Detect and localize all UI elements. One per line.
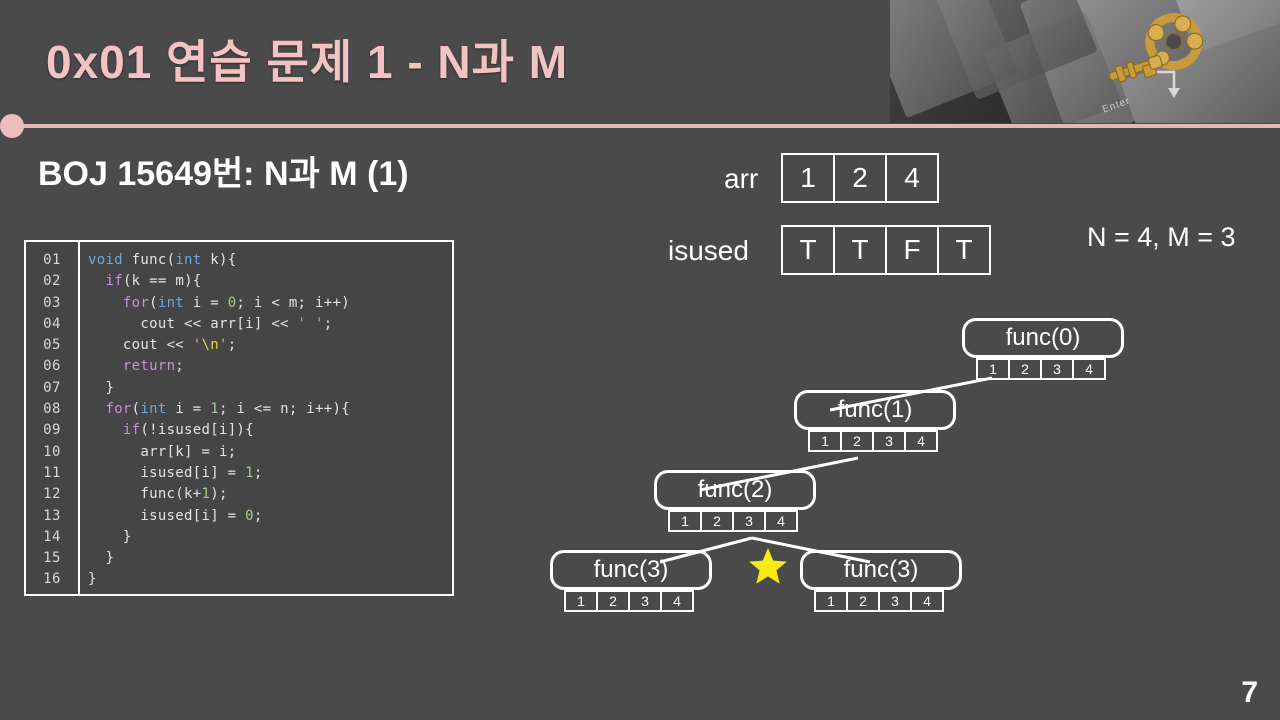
isused-table: TTFT [781, 225, 991, 275]
arr-cell: 4 [885, 153, 939, 203]
arr-cell: 1 [781, 153, 835, 203]
tree-node-index-cell: 1 [808, 430, 842, 452]
tree-node-label: func(1) [794, 390, 956, 430]
tree-node-index-cell: 1 [976, 358, 1010, 380]
code-line: cout << arr[i] << ' '; [88, 314, 452, 335]
header-divider-dot [0, 114, 24, 138]
arr-label: arr [724, 163, 758, 195]
tree-node-index-cell: 2 [840, 430, 874, 452]
code-line: void func(int k){ [88, 250, 452, 271]
star-marker-icon [748, 547, 788, 585]
code-line: for(int i = 1; i <= n; i++){ [88, 399, 452, 420]
code-line-number: 01 [26, 250, 78, 271]
code-line-number: 10 [26, 442, 78, 463]
tree-node-label: func(2) [654, 470, 816, 510]
code-line-number: 16 [26, 569, 78, 590]
code-line-number: 02 [26, 271, 78, 292]
code-line-number: 12 [26, 484, 78, 505]
isused-cell: T [833, 225, 887, 275]
code-line-number: 05 [26, 335, 78, 356]
tree-node-label: func(3) [800, 550, 962, 590]
tree-node-index-cell: 1 [668, 510, 702, 532]
tree-node-label: func(3) [550, 550, 712, 590]
tree-node-func3-left: func(3) 1234 [550, 550, 712, 612]
isused-label: isused [668, 235, 749, 267]
isused-cell: T [937, 225, 991, 275]
code-line-number: 13 [26, 506, 78, 527]
tree-node-index-cell: 4 [764, 510, 798, 532]
isused-cell: F [885, 225, 939, 275]
code-line-number: 09 [26, 420, 78, 441]
code-line-number: 11 [26, 463, 78, 484]
tree-node-index-cell: 3 [878, 590, 912, 612]
page-number: 7 [1241, 676, 1258, 710]
code-line: func(k+1); [88, 484, 452, 505]
isused-cell: T [781, 225, 835, 275]
tree-node-func1: func(1) 1234 [794, 390, 956, 452]
tree-node-index-cell: 2 [1008, 358, 1042, 380]
code-block: 01020304050607080910111213141516 void fu… [24, 240, 454, 596]
tree-node-label: func(0) [962, 318, 1124, 358]
code-line: isused[i] = 1; [88, 463, 452, 484]
code-line-number: 14 [26, 527, 78, 548]
tree-node-index-row: 1234 [814, 590, 962, 612]
code-line-number: 08 [26, 399, 78, 420]
code-line: if(!isused[i]){ [88, 420, 452, 441]
tree-node-index-cell: 2 [596, 590, 630, 612]
tree-node-index-cell: 2 [700, 510, 734, 532]
tree-node-index-cell: 3 [1040, 358, 1074, 380]
parameters-note: N = 4, M = 3 [1087, 222, 1236, 253]
code-line: } [88, 527, 452, 548]
code-line-number: 07 [26, 378, 78, 399]
code-line: arr[k] = i; [88, 442, 452, 463]
arr-table: 124 [781, 153, 939, 203]
tree-node-index-cell: 3 [628, 590, 662, 612]
tree-node-index-cell: 1 [564, 590, 598, 612]
code-content: void func(int k){ if(k == m){ for(int i … [80, 242, 452, 594]
tree-node-index-cell: 4 [910, 590, 944, 612]
tree-node-func3-right: func(3) 1234 [800, 550, 962, 612]
slide-subtitle: BOJ 15649번: N과 M (1) [38, 146, 409, 195]
tree-node-func0: func(0) 1234 [962, 318, 1124, 380]
tree-node-index-cell: 1 [814, 590, 848, 612]
tree-node-index-cell: 3 [872, 430, 906, 452]
code-line-number: 04 [26, 314, 78, 335]
code-line: cout << '\n'; [88, 335, 452, 356]
arr-cell: 2 [833, 153, 887, 203]
tree-node-index-row: 1234 [976, 358, 1124, 380]
header-photo: Enter [890, 0, 1280, 123]
tree-node-index-row: 1234 [668, 510, 816, 532]
code-line-number: 06 [26, 356, 78, 377]
code-line: } [88, 548, 452, 569]
header-divider [18, 124, 1280, 128]
page-title: 0x01 연습 문제 1 - N과 M [46, 26, 568, 92]
code-line-number: 03 [26, 293, 78, 314]
code-line: if(k == m){ [88, 271, 452, 292]
tree-node-index-row: 1234 [564, 590, 712, 612]
code-line: } [88, 378, 452, 399]
tree-node-index-cell: 4 [904, 430, 938, 452]
code-line: return; [88, 356, 452, 377]
tree-node-index-cell: 3 [732, 510, 766, 532]
code-line-number: 15 [26, 548, 78, 569]
tree-node-index-cell: 4 [660, 590, 694, 612]
tree-node-index-row: 1234 [808, 430, 956, 452]
code-line: for(int i = 0; i < m; i++) [88, 293, 452, 314]
tree-node-index-cell: 4 [1072, 358, 1106, 380]
code-line: } [88, 569, 452, 590]
tree-node-func2: func(2) 1234 [654, 470, 816, 532]
tree-node-index-cell: 2 [846, 590, 880, 612]
code-line: isused[i] = 0; [88, 506, 452, 527]
code-line-number-gutter: 01020304050607080910111213141516 [26, 242, 80, 594]
